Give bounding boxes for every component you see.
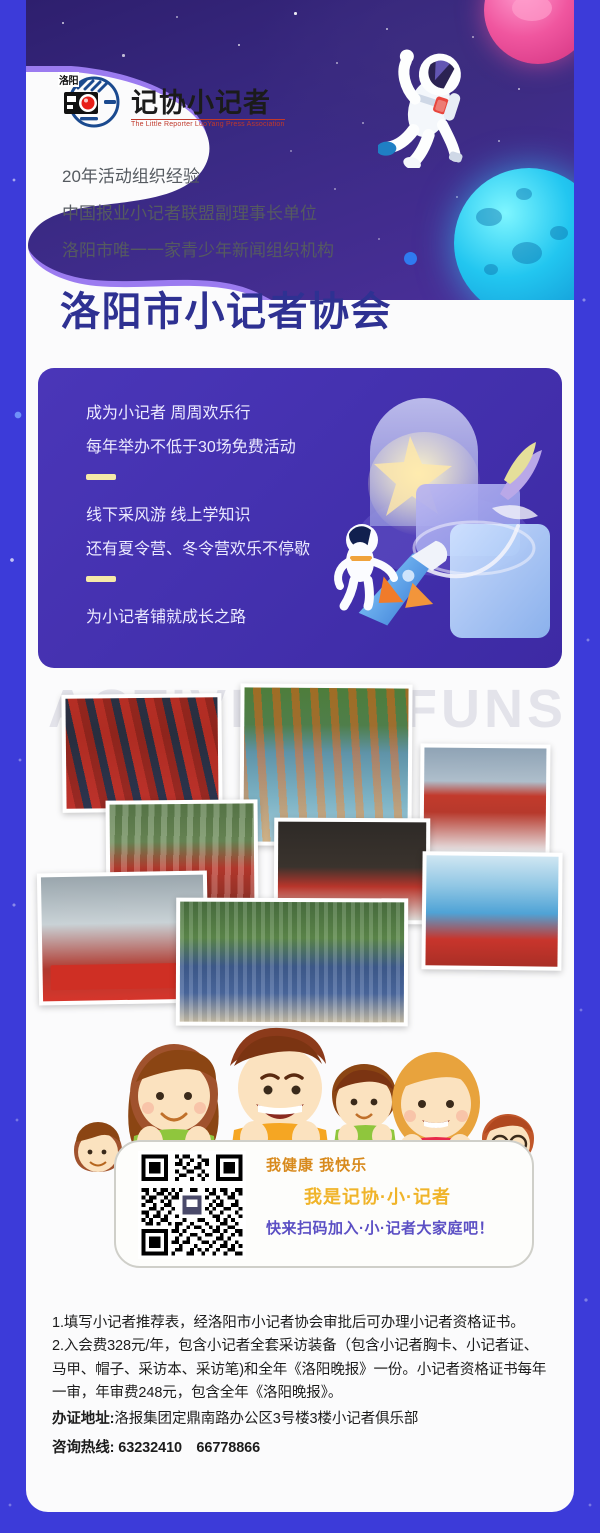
feature-g1-line2: 每年举办不低于30场免费活动 [86,440,310,456]
qr-code[interactable] [138,1151,246,1259]
association-logo: 洛阳 记协小记者 The Little Reporter LuoYang Pre… [60,76,285,128]
header-line-1: 20年活动组织经验 [62,168,334,185]
qr-invite-text: 我健康 我快乐 我是记协·小·记者 快来扫码加入·小·记者大家庭吧！ [266,1154,494,1238]
poster-root: 洛阳 记协小记者 The Little Reporter LuoYang Pre… [0,0,600,1533]
term-item-2: 2.入会费328元/年，包含小记者全套采访装备（包含小记者胸卡、小记者证、马甲、… [52,1335,552,1405]
qr-line-2: 我是记协·小·记者 [304,1183,494,1209]
features-text: 成为小记者 周周欢乐行 每年举办不低于30场免费活动 线下采风游 线上学知识 还… [86,406,310,644]
qr-line-3: 快来扫码加入·小·记者大家庭吧！ [266,1217,494,1238]
photo-large-group [176,898,408,1027]
qr-invite-section: 我健康 我快乐 我是记协·小·记者 快来扫码加入·小·记者大家庭吧！ [26,1020,574,1300]
feature-g2-line1: 线下采风游 线上学知识 [86,508,310,524]
divider-rule-1 [86,474,116,480]
divider-rule-2 [86,576,116,582]
header-bullet-lines: 20年活动组织经验 中国报业小记者联盟副理事长单位 洛阳市唯一一家青少年新闻组织… [62,168,334,279]
feature-g2-line2: 还有夏令营、冬令营欢乐不停歇 [86,542,310,558]
address-label: 办证地址: [52,1411,114,1427]
footer-terms: 1.填写小记者推荐表，经洛阳市小记者协会审批后可办理小记者资格证书。 2.入会费… [52,1312,552,1461]
address-row: 办证地址:洛报集团定鼎南路办公区3号楼3楼小记者俱乐部 [52,1408,552,1431]
photo-calligraphy-class [61,693,222,813]
feature-g1-line1: 成为小记者 周周欢乐行 [86,406,310,422]
qr-invite-card: 我健康 我快乐 我是记协·小·记者 快来扫码加入·小·记者大家庭吧！ [114,1140,534,1268]
photo-collage [26,672,574,1044]
features-panel: 成为小记者 周周欢乐行 每年举办不低于30场免费活动 线下采风游 线上学知识 还… [38,368,562,668]
hotline-row: 咨询热线: 63232410 66778866 [52,1437,552,1460]
blue-dot-icon [404,252,417,265]
hotline-label: 咨询热线: [52,1440,114,1456]
page-title: 洛阳市小记者协会 [60,292,392,332]
header-line-3: 洛阳市唯一一家青少年新闻组织机构 [62,242,334,259]
logo-subtitle: The Little Reporter LuoYang Press Associ… [131,119,285,128]
qr-line-1: 我健康 我快乐 [266,1154,494,1175]
logo-title: 记协小记者 [131,89,285,117]
feature-g3-line1: 为小记者铺就成长之路 [86,610,310,626]
hotline-numbers[interactable]: 63232410 66778866 [118,1440,260,1456]
logo-badge-text: 洛阳 [58,72,79,87]
astronaut-rocket-illustration [318,376,562,668]
astronaut-icon [378,42,482,168]
photo-swimming-pool [421,851,562,970]
address-value: 洛报集团定鼎南路办公区3号楼3楼小记者俱乐部 [114,1411,418,1427]
term-item-1: 1.填写小记者推荐表，经洛阳市小记者协会审批后可办理小记者资格证书。 [52,1312,552,1335]
header-line-2: 中国报业小记者联盟副理事长单位 [62,205,334,222]
photo-police-visit [420,743,551,856]
camera-icon: 洛阳 [60,76,122,128]
content-card: 洛阳 记协小记者 The Little Reporter LuoYang Pre… [26,0,574,1512]
